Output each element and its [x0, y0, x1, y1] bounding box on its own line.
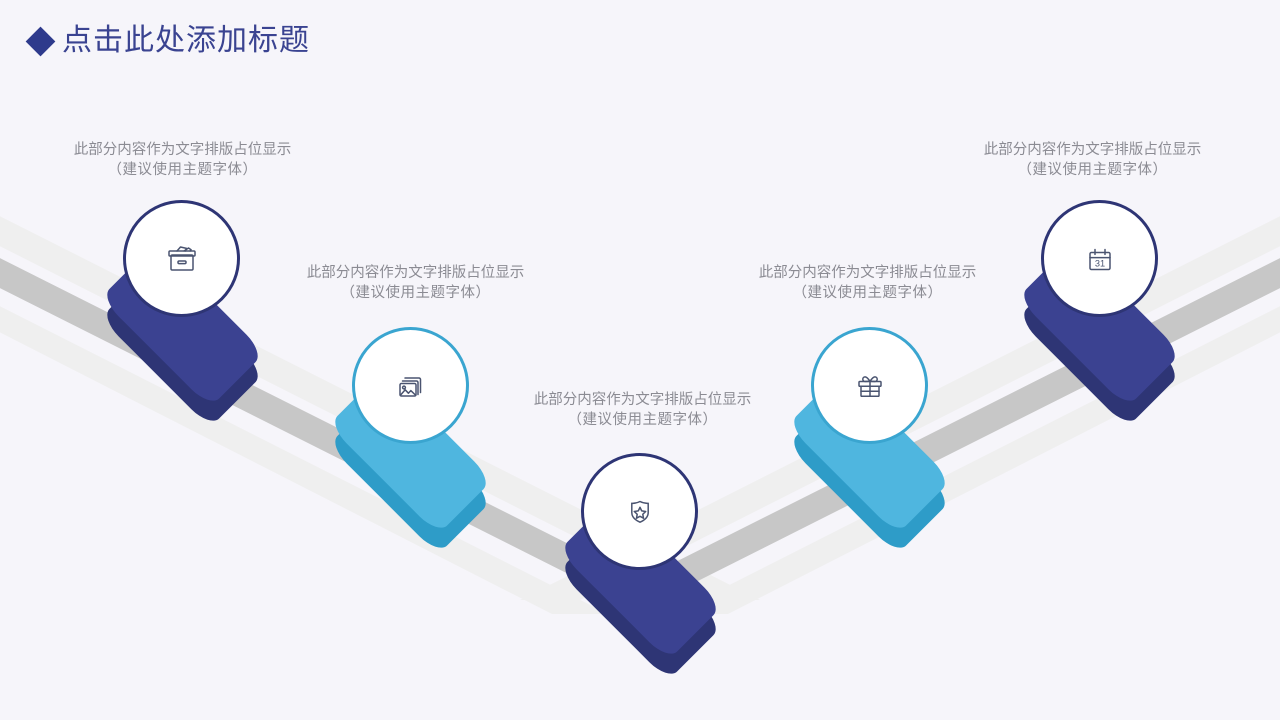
caption-2-line2: （建议使用主题字体） [293, 283, 538, 303]
photos-stack-icon [391, 366, 431, 406]
archive-box-icon [162, 239, 202, 279]
caption-2-line1: 此部分内容作为文字排版占位显示 [293, 263, 538, 283]
badge-2[interactable] [352, 327, 469, 444]
badge-4[interactable] [811, 327, 928, 444]
shield-star-icon [620, 492, 660, 532]
caption-3-line2: （建议使用主题字体） [520, 410, 765, 430]
caption-5-line2: （建议使用主题字体） [970, 160, 1215, 180]
page-title: 点击此处添加标题 [30, 26, 310, 56]
caption-4-line2: （建议使用主题字体） [745, 283, 990, 303]
calendar-day-number: 31 [1094, 258, 1104, 268]
caption-4: 此部分内容作为文字排版占位显示 （建议使用主题字体） [745, 263, 990, 303]
caption-4-line1: 此部分内容作为文字排版占位显示 [745, 263, 990, 283]
caption-1: 此部分内容作为文字排版占位显示 （建议使用主题字体） [60, 140, 305, 180]
caption-1-line1: 此部分内容作为文字排版占位显示 [60, 140, 305, 160]
diamond-icon [26, 26, 56, 56]
badge-5[interactable]: 31 [1041, 200, 1158, 317]
page-title-text: 点击此处添加标题 [62, 26, 310, 56]
caption-2: 此部分内容作为文字排版占位显示 （建议使用主题字体） [293, 263, 538, 303]
caption-3-line1: 此部分内容作为文字排版占位显示 [520, 390, 765, 410]
caption-5: 此部分内容作为文字排版占位显示 （建议使用主题字体） [970, 140, 1215, 180]
badge-1[interactable] [123, 200, 240, 317]
gift-box-icon [850, 366, 890, 406]
calendar-icon: 31 [1080, 239, 1120, 279]
badge-3[interactable] [581, 453, 698, 570]
caption-1-line2: （建议使用主题字体） [60, 160, 305, 180]
caption-5-line1: 此部分内容作为文字排版占位显示 [970, 140, 1215, 160]
caption-3: 此部分内容作为文字排版占位显示 （建议使用主题字体） [520, 390, 765, 430]
